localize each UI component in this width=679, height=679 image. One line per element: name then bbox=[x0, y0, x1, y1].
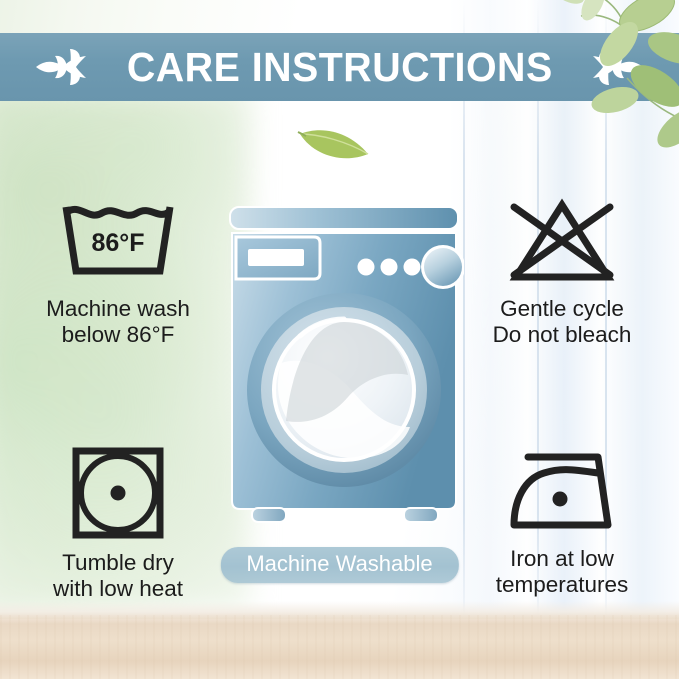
care-symbol-label: Tumble dry with low heat bbox=[53, 550, 183, 602]
care-symbol-tumble-dry: Tumble dry with low heat bbox=[18, 443, 218, 602]
care-symbol-do-not-bleach: Gentle cycle Do not bleach bbox=[462, 193, 662, 348]
fleur-de-lis-ornament-right-icon bbox=[583, 43, 649, 91]
floating-leaf-icon bbox=[296, 120, 374, 166]
wash-temperature-text: 86°F bbox=[91, 229, 144, 257]
care-instructions-infographic: CARE INSTRUCTIONS bbox=[0, 0, 679, 679]
machine-washable-badge: Machine Washable bbox=[220, 547, 458, 583]
washing-machine-illustration bbox=[224, 205, 464, 535]
fleur-de-lis-ornament-left-icon bbox=[30, 43, 96, 91]
care-symbol-label: Iron at low temperatures bbox=[496, 546, 629, 598]
no-bleach-triangle-icon bbox=[498, 193, 626, 289]
care-symbol-machine-wash: 86°F Machine wash below 86°F bbox=[18, 193, 218, 348]
machine-top-lid bbox=[230, 207, 458, 229]
machine-feet bbox=[252, 508, 438, 522]
badge-label: Machine Washable bbox=[246, 551, 432, 576]
control-knob bbox=[421, 245, 464, 289]
table-wood-grain bbox=[0, 615, 679, 679]
header-banner: CARE INSTRUCTIONS bbox=[0, 33, 679, 101]
care-symbol-iron: Iron at low temperatures bbox=[462, 443, 662, 598]
wooden-table-surface bbox=[0, 615, 679, 679]
wash-tub-icon: 86°F bbox=[54, 193, 182, 289]
tumble-dry-square-icon bbox=[66, 443, 170, 543]
care-symbol-label: Machine wash below 86°F bbox=[46, 296, 190, 348]
machine-door bbox=[247, 293, 441, 487]
detergent-drawer bbox=[236, 237, 320, 279]
page-title: CARE INSTRUCTIONS bbox=[127, 47, 553, 88]
control-indicator-dots bbox=[358, 259, 421, 276]
iron-icon bbox=[498, 443, 626, 539]
care-symbol-label: Gentle cycle Do not bleach bbox=[493, 296, 632, 348]
